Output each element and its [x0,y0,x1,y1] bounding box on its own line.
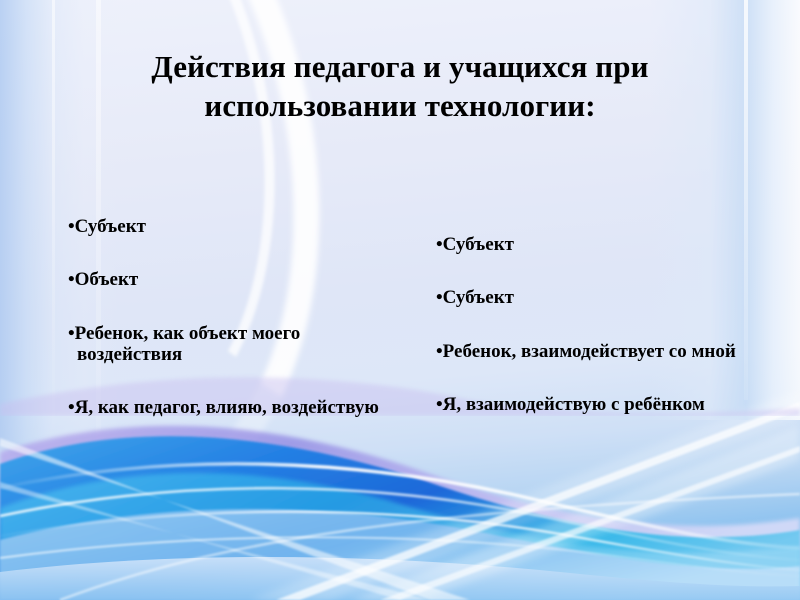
page-title-line-1: Действия педагога и учащихся при [151,49,648,84]
bullet-icon: • [68,216,75,237]
bullet-icon: • [436,287,443,308]
list-item-label: Субъект [443,287,514,308]
wave-decoration [0,390,800,600]
list-item: •Ребенок, как объект моего воздействия [68,323,398,366]
bullet-icon: • [436,234,443,255]
list-item: •Объект [68,269,398,290]
list-item: •Я, как педагог, влияю, воздействую [68,397,398,418]
list-item-label: Объект [75,269,139,290]
list-item-label: Ребенок, как объект моего воздействия [75,323,301,365]
bullet-column-teacher-actions: •Субъект •Объект •Ребенок, как объект мо… [68,216,398,418]
list-item: •Субъект [68,216,398,237]
list-item-label: Субъект [75,216,146,237]
list-item: •Субъект [436,287,776,308]
bullet-icon: • [68,397,75,418]
bullet-icon: • [436,394,443,415]
list-item: •Ребенок, взаимодействует со мной [436,341,776,362]
bullet-icon: • [68,323,75,344]
list-item: •Субъект [436,234,776,255]
list-item-label: Ребенок, взаимодействует со мной [443,341,736,362]
slide-canvas: Действия педагога и учащихся при использ… [0,0,800,600]
bullet-icon: • [68,269,75,290]
bullet-icon: • [436,341,443,362]
bullet-column-student-actions: •Субъект •Субъект •Ребенок, взаимодейств… [436,234,776,415]
page-title-line-2: использовании технологии: [204,88,595,123]
list-item: •Я, взаимодействую с ребёнком [436,394,776,415]
list-item-label: Субъект [443,234,514,255]
page-title: Действия педагога и учащихся при использ… [30,47,770,126]
list-item-label: Я, как педагог, влияю, воздействую [75,397,379,418]
list-item-label: Я, взаимодействую с ребёнком [443,394,705,415]
